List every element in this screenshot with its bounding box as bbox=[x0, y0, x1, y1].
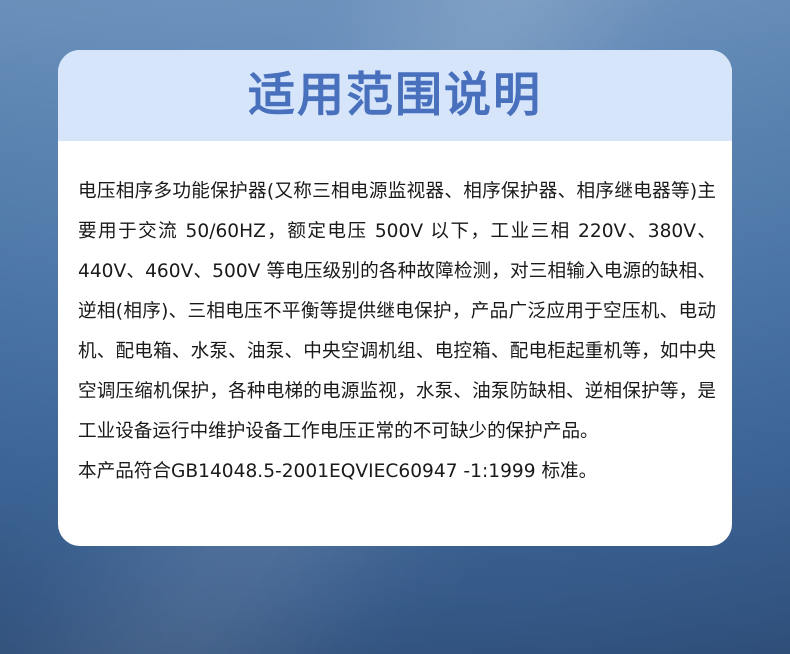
page-title: 适用范围说明 bbox=[248, 72, 542, 119]
card-banner: 适用范围说明 bbox=[58, 50, 732, 141]
description-paragraph-main: 电压相序多功能保护器(又称三相电源监视器、相序保护器、相序继电器等)主要用于交流… bbox=[78, 172, 716, 452]
info-card: 适用范围说明 电压相序多功能保护器(又称三相电源监视器、相序保护器、相序继电器等… bbox=[58, 50, 732, 546]
card-body: 电压相序多功能保护器(又称三相电源监视器、相序保护器、相序继电器等)主要用于交流… bbox=[58, 141, 732, 492]
product-info-page: 适用范围说明 电压相序多功能保护器(又称三相电源监视器、相序保护器、相序继电器等… bbox=[0, 0, 790, 654]
description-text: 电压相序多功能保护器(又称三相电源监视器、相序保护器、相序继电器等)主要用于交流… bbox=[78, 172, 716, 492]
description-paragraph-standard: 本产品符合GB14048.5-2001EQVIEC60947 -1:1999 标… bbox=[78, 452, 716, 492]
